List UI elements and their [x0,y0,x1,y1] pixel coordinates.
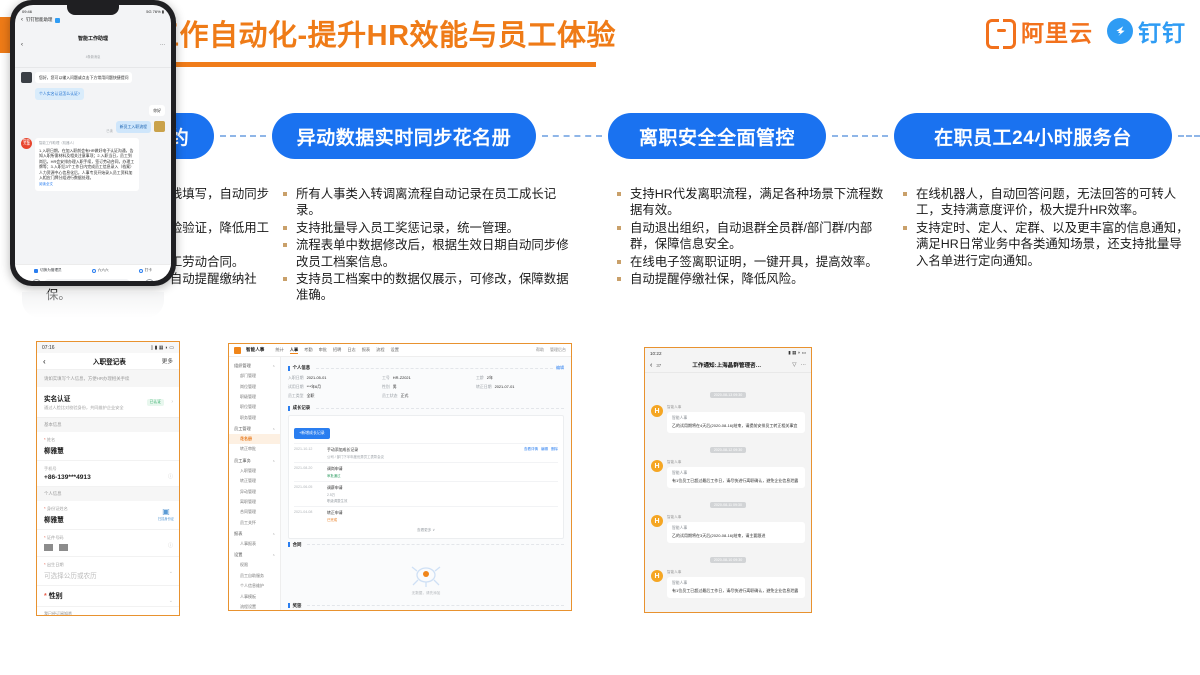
sidebar-item-duty[interactable]: 职务管理 [229,413,280,423]
circle-icon [139,269,143,273]
table-row[interactable]: 2021-04-08 转正申请 已完成 [294,506,558,525]
view-more-button[interactable]: 查看更多 ∨ [294,525,558,533]
record-date: 2021-08-20 [294,466,322,478]
stage-pill-transfer-sync[interactable]: 异动数据实时同步花名册 [272,113,536,159]
sidebar-item-leave[interactable]: 离职管理 [229,497,280,507]
record-date: 2021-06-05 [294,485,322,503]
list-item: 支持HR代发离职流程，满足各种场景下流程数据有效。 [614,186,890,219]
phone-notch [67,5,119,15]
info-key: 员工类型 [288,393,304,399]
sidebar-item-hr-template[interactable]: 人事模板 [229,591,280,601]
sidebar-group-label: 报表 [234,531,242,537]
field-phone-label: 手机号 [44,466,172,472]
aliyun-dash-icon [997,29,1006,32]
timestamp-divider: 2020-08-13 09:30 [651,383,805,401]
sidebar-item-self-service[interactable]: 员工自助服务 [229,571,280,581]
chat-message: H 智能人事 智能人事 有1位员工已超过最后工作日，请尽快进行离职确认，避免企业… [651,460,805,488]
agreement-text: 我已经订阅知悉 [37,607,179,616]
status-time: 10:22 [650,351,662,356]
edit-button[interactable]: 编辑 [556,365,564,371]
section-title: 成长记录 [293,405,311,411]
section-header-reward: 奖惩 [288,603,564,609]
record-main: 调岗申请 审批通过 [327,466,558,478]
field-id-number-label-text: 证件号码 [47,535,64,540]
message-text: 1.入职日期，在加入职前会有HR做好电子认证沟通，告知入职所需材料及相关注意事项… [39,148,135,180]
message-card-title: 智能人事 [672,416,800,421]
slide-header: 基础人事工作自动化-提升HR效能与员工体验 阿里云 钉钉 [0,0,1200,70]
info-field: 性别男 [382,384,470,390]
field-birthdate-label-text: 出生日期 [47,562,64,567]
assistant-header-mid: 智能工作助理 4条新消息 [31,27,155,63]
sidebar-item-regular[interactable]: 转正管理 [229,476,280,486]
message-bubble[interactable]: 智能人事 乙的试用期将在3天后(2020-08-16)结束，请主要跟进 [667,522,805,543]
thumb-icon[interactable]: ✋ [133,279,142,281]
info-value: HR-Z2021 [393,375,411,381]
verified-badge-icon [55,18,60,23]
field-id-number[interactable]: * 证件号码 ⓘ [37,530,179,557]
sidebar-group-label: 组织管理 [234,363,251,369]
timestamp-divider: 2020-08-10 09:30 [651,548,805,566]
console-main: 个人信息 编辑 入职日期2021-05-01 工号HR-Z2021 工龄2年 试… [281,357,571,611]
phone-device-frame: 09:46 5G 76% ▮ ‹ 钉钉智能助理 ‹ 智能工作助理 4条新消息 ·… [10,0,176,286]
timestamp-divider: 2020-08-11 09:30 [651,493,805,511]
sidebar-group-org[interactable]: 组织管理∧ [229,360,280,371]
field-phone[interactable]: 手机号 +86-139***4913 ⓘ [37,461,179,487]
message-text: 有1位员工已超过最后工作日，请尽快进行离职确认，避免企业信息泄露 [672,478,800,484]
info-value: 全职 [307,393,315,399]
field-phone-value: +86-139***4913 [44,474,172,481]
field-name-value: 柳雅慧 [44,445,172,455]
field-birthdate-placeholder: 可选择公历或农历 [44,570,172,580]
status-time: 09:46 [22,9,32,14]
dingtalk-logo: 钉钉 [1107,14,1186,48]
field-id-name-value: 柳雅慧 [44,514,172,524]
info-key: 工龄 [476,375,484,381]
assistant-feed[interactable]: 您好，您可以输入问题或点击下方常用问题快捷提问 个人实名认证怎么认证? 你好 已… [15,68,171,264]
chevron-icon: ∧ [273,427,275,431]
record-date: 2021-04-08 [294,510,322,522]
voice-icon[interactable]: ◉ [20,279,29,281]
help-link[interactable]: 帮助 [536,347,544,353]
info-value: ***年6月 [307,384,322,390]
console-sidebar: 组织管理∧ 部门管理 岗位管理 职级管理 职位管理 职务管理 员工管理∧ 花名册… [229,357,281,611]
timestamp: 2020-08-12 09:30 [710,447,746,453]
avatar: H [651,405,663,417]
info-icon[interactable]: ⓘ [168,473,173,480]
console-menu: 统计 人事 考勤 审批 招聘 日志 报表 流程 设置 [275,347,399,354]
filter-icon[interactable]: ▽ [792,362,796,368]
quick-action-checkin[interactable]: 打卡 [139,268,152,273]
chat-status-bar: 10:22 ▮ ▦ ◗ ▭ [645,348,811,358]
chat-message-user: 已读 新员工入职流程 [21,121,165,132]
record-title: 调薪申请 [327,485,558,491]
menu-item[interactable]: 招聘 [333,347,341,354]
message-text: 乙的试用期将在3天后(2020-08-16)结束，请主要跟进 [672,533,800,539]
message-card-title: 智能人事 [672,581,800,586]
info-key: 转正日期 [476,384,492,390]
chevron-icon: ∧ [273,553,275,557]
screenshot-mobile-onboarding-form: 07:16 ▯ ▮ ▦ ◗ ▭ ‹ 入职登记表 更多 请如实填写个人信息，方便H… [36,341,180,616]
quick-action-666[interactable]: 六六六 [92,268,109,273]
console-brand: 智能人事 [246,347,264,353]
record-actions: 查看详情 编辑 删除 [524,447,558,459]
sidebar-item-care[interactable]: 员工关怀 [229,518,280,528]
chevron-icon: ∧ [273,459,275,463]
sidebar-group-affairs[interactable]: 员工事务∧ [229,455,280,466]
more-icon[interactable]: ··· [155,42,165,48]
menu-item[interactable]: 设置 [391,347,399,354]
chat-message-bot-card: 智能人事 智能工作助理（机器人） 1.入职日期，在加入职前会有HR做好电子认证沟… [21,138,165,191]
info-key: 员工状态 [382,393,398,399]
sidebar-item-post[interactable]: 岗位管理 [229,381,280,391]
message-sender: 智能工作助理（机器人） [39,141,135,146]
edit-link[interactable]: 编辑 [541,447,548,459]
sidebar-group-label: 设置 [234,552,242,558]
admin-link[interactable]: 管理后台 [550,347,566,353]
outer-chat-name: 钉钉智能助理 [26,17,52,23]
console-topbar: 智能人事 统计 人事 考勤 审批 招聘 日志 报表 流程 设置 帮助 管理后台 [229,344,571,357]
add-growth-record-button[interactable]: +新增成长记录 [294,428,330,439]
timestamp: 2020-08-13 09:30 [710,392,746,398]
suggestion-bubble[interactable]: 个人实名认证怎么认证? [35,88,84,99]
feature-columns: 入职登记表自定义，在线填写，自动同步花名册。 实名认证打通公安部人脸验证，降低用… [0,186,1200,316]
list-item: 所有人事类入转调离流程自动记录在员工成长记录。 [280,186,580,219]
console-topbar-right: 帮助 管理后台 [536,347,566,353]
section-divider [316,368,553,369]
screenshot-work-notification-chat: 10:22 ▮ ▦ ◗ ▭ ‹ 37 工作通知:上海晶群管理咨… ▽ ··· 2… [644,347,812,613]
sidebar-item-position[interactable]: 职位管理 [229,402,280,412]
record-sub: 2.5万 [327,492,558,497]
section-divider [307,544,564,545]
chat-nav-bar: ‹ 37 工作通知:上海晶群管理咨… ▽ ··· [645,358,811,373]
sidebar-group-settings[interactable]: 设置∧ [229,549,280,560]
form-hint: 请如实填写个人信息，方便HR办理相关手续 [37,370,179,387]
field-id-name-label-text: 身份证姓名 [47,506,68,511]
record-title: 转正申请 [327,510,558,516]
aliyun-mark-icon [986,19,1016,43]
record-status: 已完成 [327,517,558,522]
message-bubble[interactable]: 新员工入职流程 [116,121,151,132]
mobile-status-bar: 07:16 ▯ ▮ ▦ ◗ ▭ [37,342,179,353]
stage-pill-offboarding[interactable]: 离职安全全面管控 [608,113,826,159]
message-sender: 智能人事 [667,515,805,520]
info-value: 男 [393,384,397,390]
id-number-boxes [44,544,172,551]
message-input-bar: ◉ ◉ ✋ ☻ ＋ [15,276,171,281]
list-item: 支持批量导入员工奖惩记录，统一管理。 [280,220,580,236]
back-icon[interactable]: ‹ [43,357,57,366]
list-item: 在线机器人，自动回答问题，无法回答的可转人工，支持满意度评价，极大提升HR效率。 [900,186,1190,219]
section-divider [316,408,564,409]
phone-reflection [22,292,164,318]
info-grid: 入职日期2021-05-01 工号HR-Z2021 工龄2年 试用日期***年6… [288,375,564,399]
info-key: 工号 [382,375,390,381]
feature-column-service: 在线机器人，自动回答问题，无法回答的可转人工，支持满意度评价，极大提升HR效率。… [900,186,1190,270]
info-field: 试用日期***年6月 [288,384,376,390]
timestamp-divider: 2020-08-12 09:30 [651,438,805,456]
section-title: 奖惩 [293,603,302,609]
read-more-link[interactable]: 阅读全文 [39,182,135,187]
status-icons: 5G 76% ▮ [146,9,164,14]
sidebar-item-dept[interactable]: 部门管理 [229,371,280,381]
sidebar-item-contract[interactable]: 合同管理 [229,507,280,517]
id-box [44,544,53,551]
info-field: 入职日期2021-05-01 [288,375,376,381]
brand-logos: 阿里云 钉钉 [986,14,1186,48]
empty-state-contract: 无数据，请先添加 [288,552,564,600]
section-header-contract: 合同 [288,542,564,548]
console-body: 组织管理∧ 部门管理 岗位管理 职级管理 职位管理 职务管理 员工管理∧ 花名册… [229,357,571,611]
record-title: 调岗申请 [327,466,558,472]
info-field: 员工类型全职 [288,393,376,399]
field-id-name[interactable]: * 身份证姓名 柳雅慧 ▣ 扫描身份证 [37,501,179,530]
back-icon[interactable]: ‹ [650,362,652,369]
section-header-growth: 成长记录 [288,405,564,411]
section-basic-header: 基本信息 [37,418,179,432]
form-title: 入职登记表 [57,356,162,366]
aliyun-logo-label: 阿里云 [1021,14,1093,48]
message-text: 乙的试用期将在4天后(2020-08-16)结束，请提前安排员工转正相关事宜 [672,423,800,429]
chevron-down-icon[interactable]: ⌄ [169,569,173,575]
chevron-icon: ∧ [273,532,275,536]
message-bubble[interactable]: 智能人事 乙的试用期将在4天后(2020-08-16)结束，请提前安排员工转正相… [667,412,805,433]
message-body: 智能人事 智能人事 有1位员工已超过最后工作日，请尽快进行离职确认，避免企业信息… [667,570,805,598]
field-gender[interactable]: * 性别 ⌄ [37,586,179,607]
message-body: 智能人事 智能人事 有1位员工已超过最后工作日，请尽快进行离职确认，避免企业信息… [667,460,805,488]
avatar: H [651,570,663,582]
growth-records-panel: +新增成长记录 2021-10-12 手动添加成长记录 公司 / 部门下半年度优… [288,415,564,539]
status-time: 07:16 [42,345,55,351]
camera-icon: ▣ [158,507,174,516]
menu-item[interactable]: 流程 [376,347,384,354]
list-item: 支持定时、定人、定群、以及更丰富的信息通知，满足HR日常业务中各类通知场景，还支… [900,220,1190,269]
mobile-nav-bar: ‹ 入职登记表 更多 [37,353,179,370]
chevron-down-icon[interactable]: ⌄ [169,598,173,604]
list-item: 自动提醒停缴社保，降低风险。 [614,271,890,287]
info-field: 工龄2年 [476,375,564,381]
message-body: 智能人事 智能人事 乙的试用期将在4天后(2020-08-16)结束，请提前安排… [667,405,805,433]
message-body: 智能人事 智能人事 乙的试用期将在3天后(2020-08-16)结束，请主要跟进 [667,515,805,543]
unread-count: 37 [656,363,661,368]
info-value: 2021-05-01 [307,375,327,381]
status-icons: ▯ ▮ ▦ ◗ ▭ [150,345,174,351]
sidebar-item-entry[interactable]: 入职管理 [229,466,280,476]
menu-item[interactable]: 考勤 [304,347,312,354]
quick-action-bar: 切换为管理员 六六六 打卡 [15,264,171,276]
info-key: 性别 [382,384,390,390]
avatar [154,121,165,132]
plus-icon[interactable]: ＋ [157,279,166,281]
delete-link[interactable]: 删除 [551,447,558,459]
aliyun-logo: 阿里云 [986,14,1093,48]
empty-illustration-icon [409,562,443,588]
timestamp: 2020-08-10 09:30 [710,557,746,563]
menu-item[interactable]: 报表 [362,347,370,354]
field-birthdate-label: * 出生日期 [44,562,172,568]
message-card-title: 智能人事 [672,526,800,531]
phone-outer-header: ‹ 钉钉智能助理 [15,16,171,24]
record-date: 2021-10-12 [294,447,322,459]
screenshot-phone-assistant: 09:46 5G 76% ▮ ‹ 钉钉智能助理 ‹ 智能工作助理 4条新消息 ·… [0,0,186,300]
menu-item[interactable]: 日志 [347,347,355,354]
record-title: 手动添加成长记录 [327,447,519,453]
record-sub: 公司 / 部门下半年度优秀员工表彰会议 [327,454,519,459]
status-icons: ▮ ▦ ◗ ▭ [788,350,806,356]
info-field: 员工状态正式 [382,393,470,399]
pill-connector-1 [542,135,602,137]
empty-state-text: 无数据，请先添加 [288,591,564,596]
sidebar-item-roster[interactable]: 花名册 [229,434,280,444]
section-title: 合同 [293,542,302,548]
slide-root: 基础人事工作自动化-提升HR效能与员工体验 阿里云 钉钉 [0,0,1200,675]
quick-action-switch-admin[interactable]: 切换为管理员 [34,268,62,273]
section-header-personal: 个人信息 编辑 [288,365,564,371]
info-key: 试用日期 [288,384,304,390]
record-main: 转正申请 已完成 [327,510,558,522]
list-item: 支持员工档案中的数据仅展示，可修改，保障数据准确。 [280,271,580,304]
quick-action-label: 切换为管理员 [40,268,62,273]
field-birthdate[interactable]: * 出生日期 可选择公历或农历 ⌄ [37,557,179,586]
quick-action-label: 打卡 [145,268,152,273]
section-accent-bar [288,406,290,411]
section-accent-bar [288,366,290,371]
info-value: 2年 [487,375,493,381]
dingtalk-mark-icon [1107,18,1133,44]
assistant-title: 智能工作助理 [78,36,108,42]
stage-pill-service-desk[interactable]: 在职员工24小时服务台 [894,113,1172,159]
message-card[interactable]: 智能工作助理（机器人） 1.入职日期，在加入职前会有HR做好电子认证沟通，告知入… [35,138,139,191]
sidebar-item-change[interactable]: 异动管理 [229,486,280,496]
id-box [59,544,68,551]
chat-message-bot: 您好，您可以输入问题或点击下方常用问题快捷提问 [21,72,165,83]
info-value: 2021-07-01 [495,384,515,390]
square-icon [34,269,38,273]
info-icon[interactable]: ⓘ [168,542,173,549]
field-gender-label: * 性别 [44,591,172,601]
sidebar-item-confirm[interactable]: 转正审批 [229,444,280,454]
field-id-number-label: * 证件号码 [44,535,172,541]
assistant-subtitle: 4条新消息 [86,55,101,59]
sidebar-item-flow-settings[interactable]: 流程设置 [229,602,280,611]
field-id-name-label: * 身份证姓名 [44,506,172,512]
scan-id-label: 扫描身份证 [158,516,174,521]
avatar-assistant: 智能人事 [21,138,32,149]
timestamp: 2020-08-11 09:30 [710,502,746,508]
more-icon[interactable]: ··· [801,362,807,368]
list-item: 自动退出组织，自动退群全员群/部门群/内部群，保障信息安全。 [614,220,890,253]
record-sub2: 职级调整生效 [327,498,558,503]
chat-title: 工作通知:上海晶群管理咨… [665,361,788,369]
message-input[interactable] [44,279,130,281]
section-accent-bar [288,603,290,608]
view-detail-link[interactable]: 查看详情 [524,447,538,459]
chat-message: H 智能人事 智能人事 乙的试用期将在3天后(2020-08-16)结束，请主要… [651,515,805,543]
dingtalk-logo-label: 钉钉 [1138,14,1186,48]
menu-item[interactable]: 审批 [319,347,327,354]
pill-connector-3 [1178,135,1200,137]
scan-id-button[interactable]: ▣ 扫描身份证 [158,507,174,521]
field-name-label-text: 姓名 [47,437,55,442]
message-bubble[interactable]: 智能人事 有1位员工已超过最后工作日，请尽快进行离职确认，避免企业信息泄露 [667,467,805,488]
feature-column-transfer: 所有人事类入转调离流程自动记录在员工成长记录。 支持批量导入员工奖惩记录，统一管… [280,186,580,305]
mood-icon[interactable]: ◉ [32,279,41,281]
field-name-label: * 姓名 [44,437,172,443]
feature-column-offboarding: 支持HR代发离职流程，满足各种场景下流程数据有效。 自动退出组织，自动退群全员群… [614,186,890,288]
message-bubble[interactable]: 你好 [149,105,165,116]
read-receipt: 已读 [106,128,112,133]
message-bubble[interactable]: 智能人事 有1位员工已超过最后工作日，请尽快进行离职确认，避免企业信息泄露 [667,577,805,598]
menu-item-active[interactable]: 人事 [290,347,298,354]
chat-message-suggestion: 个人实名认证怎么认证? [21,88,165,99]
message-text: 有1位员工已超过最后工作日，请尽快进行离职确认，避免企业信息泄露 [672,588,800,594]
table-row[interactable]: 2021-10-12 手动添加成长记录 公司 / 部门下半年度优秀员工表彰会议 … [294,443,558,462]
chat-message: H 智能人事 智能人事 有1位员工已超过最后工作日，请尽快进行离职确认，避免企业… [651,570,805,598]
info-value: 正式 [401,393,409,399]
message-sender: 智能人事 [667,460,805,465]
sidebar-group-label: 员工管理 [234,426,251,432]
record-main: 调薪申请 2.5万 职级调整生效 [327,485,558,503]
message-sender: 智能人事 [667,570,805,575]
info-field: 工号HR-Z2021 [382,375,470,381]
realname-verify-row[interactable]: 实名认证 通过人脸比对校验身份，共同维护企业安全 已认证 › [37,387,179,418]
status-badge: 已认证 [147,399,164,406]
record-main: 手动添加成长记录 公司 / 部门下半年度优秀员工表彰会议 [327,447,519,459]
sidebar-item-profile-maint[interactable]: 个人信息维护 [229,581,280,591]
sidebar-item-permission[interactable]: 权限 [229,560,280,570]
field-name[interactable]: * 姓名 柳雅慧 [37,432,179,461]
message-sender: 智能人事 [667,405,805,410]
assistant-header: ‹ 智能工作助理 4条新消息 ··· [15,24,171,68]
field-gender-label-text: 性别 [49,593,63,600]
more-button[interactable]: 更多 [162,357,173,365]
list-item: 在线电子签离职证明，一键开具，提高效率。 [614,254,890,270]
sidebar-group-report[interactable]: 报表∧ [229,528,280,539]
menu-item[interactable]: 统计 [275,347,283,354]
avatar: H [651,460,663,472]
record-status: 审批通过 [327,473,558,478]
info-field: 转正日期2021-07-01 [476,384,564,390]
section-personal-header: 个人信息 [37,487,179,501]
chevron-right-icon: › [171,399,173,405]
sidebar-item-hr-report[interactable]: 人事报表 [229,539,280,549]
list-item: 流程表单中数据修改后，根据生效日期自动同步修改员工档案信息。 [280,237,580,270]
console-logo-icon [234,347,241,354]
sidebar-group-label: 员工事务 [234,458,251,464]
chat-message: H 智能人事 智能人事 乙的试用期将在4天后(2020-08-16)结束，请提前… [651,405,805,433]
pill-connector-0 [220,135,266,137]
section-title: 个人信息 [293,365,311,371]
table-row[interactable]: 2021-08-20 调岗申请 审批通过 [294,462,558,481]
chevron-icon: ∧ [273,364,275,368]
table-row[interactable]: 2021-06-05 调薪申请 2.5万 职级调整生效 [294,481,558,506]
back-icon[interactable]: ‹ [21,42,31,48]
section-divider [307,605,564,606]
stage-pill-row: 一键入职和签约 异动数据实时同步花名册 离职安全全面管控 在职员工24小时服务台 [0,113,1200,159]
pill-connector-2 [832,135,888,137]
sidebar-group-employee[interactable]: 员工管理∧ [229,423,280,434]
chat-feed[interactable]: 2020-08-13 09:30 H 智能人事 智能人事 乙的试用期将在4天后(… [645,373,811,613]
screenshot-admin-console: 智能人事 统计 人事 考勤 审批 招聘 日志 报表 流程 设置 帮助 管理后台 … [228,343,572,611]
phone-screen: 09:46 5G 76% ▮ ‹ 钉钉智能助理 ‹ 智能工作助理 4条新消息 ·… [15,5,171,281]
sidebar-item-rank[interactable]: 职级管理 [229,392,280,402]
message-bubble[interactable]: 您好，您可以输入问题或点击下方常用问题快捷提问 [35,72,132,83]
info-key: 入职日期 [288,375,304,381]
avatar [21,72,32,83]
back-icon[interactable]: ‹ [21,17,23,23]
emoji-icon[interactable]: ☻ [145,279,154,281]
message-card-title: 智能人事 [672,471,800,476]
circle-icon [92,269,96,273]
